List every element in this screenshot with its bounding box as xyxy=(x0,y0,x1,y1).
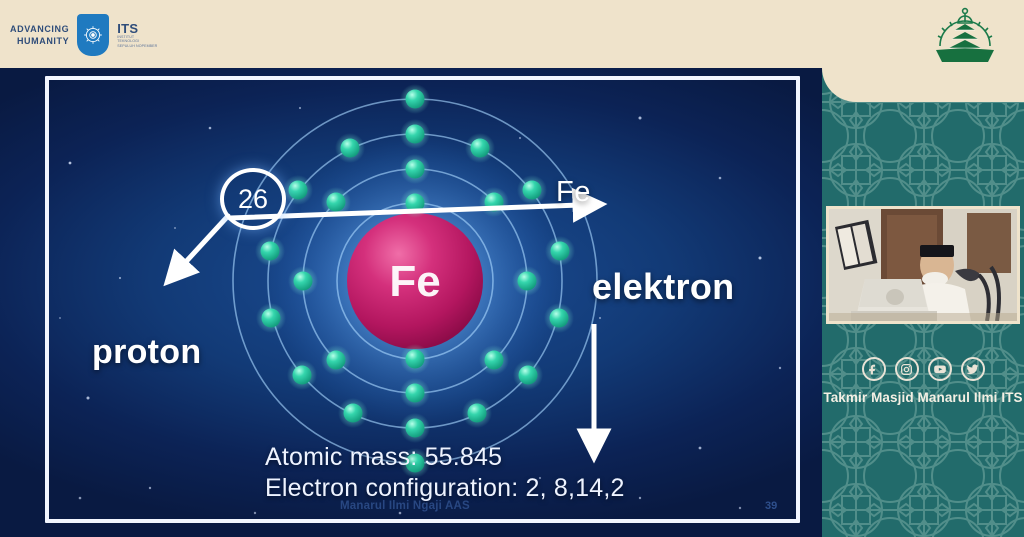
tagline-line-2: HUMANITY xyxy=(10,35,69,47)
slide-border-frame xyxy=(45,76,800,523)
its-wordmark: ITS xyxy=(117,22,157,35)
social-links-row[interactable] xyxy=(822,355,1024,383)
instagram-icon[interactable] xyxy=(895,357,919,381)
channel-name-label: Takmir Masjid Manarul Ilmi ITS xyxy=(822,390,1024,405)
top-header-bar: ADVANCING HUMANITY ITS INSTITUT TEKNOLOG… xyxy=(0,0,1024,68)
advancing-humanity-tagline: ADVANCING HUMANITY xyxy=(10,23,69,47)
youtube-icon[interactable] xyxy=(928,357,952,381)
speaker-video-feed[interactable] xyxy=(826,206,1020,324)
video-frame-image xyxy=(829,209,1017,321)
tagline-line-1: ADVANCING xyxy=(10,23,69,35)
manarul-ilmi-mosque-logo xyxy=(928,6,1002,68)
its-subtext-line-3: SEPULUH NOPEMBER xyxy=(117,44,157,49)
its-brand-lockup: ADVANCING HUMANITY ITS INSTITUT TEKNOLOG… xyxy=(10,14,157,56)
screen: Fe xyxy=(0,0,1024,537)
twitter-icon[interactable] xyxy=(961,357,985,381)
its-wordmark-block: ITS INSTITUT TEKNOLOGI SEPULUH NOPEMBER xyxy=(117,22,157,49)
its-shield-logo xyxy=(77,14,109,56)
facebook-icon[interactable] xyxy=(862,357,886,381)
presentation-slide: Fe xyxy=(0,68,822,537)
